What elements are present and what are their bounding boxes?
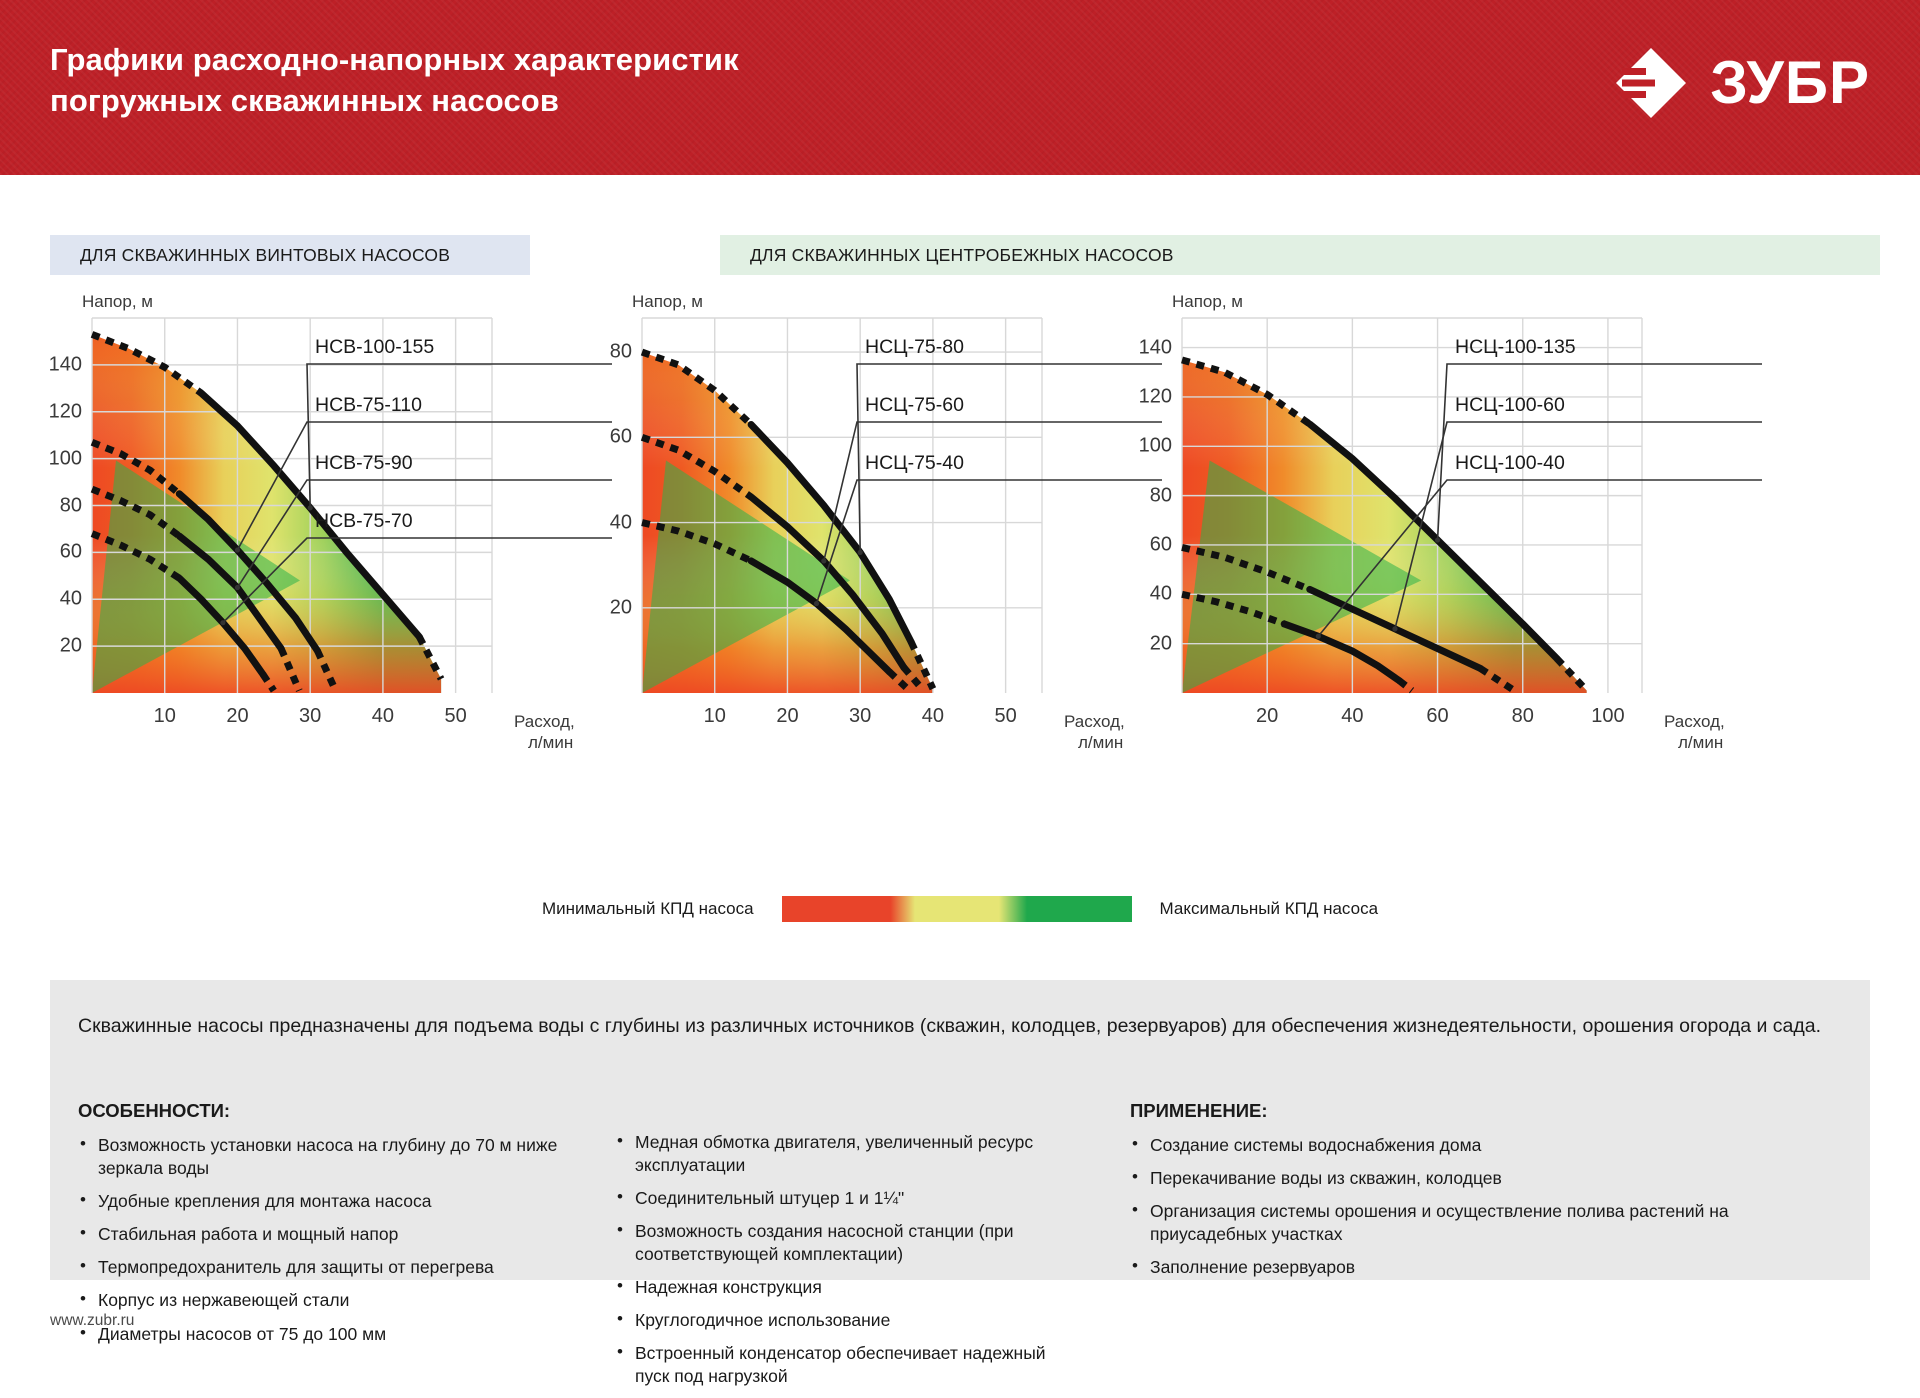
feature-item: Соединительный штуцер 1 и 1¼" (615, 1187, 1075, 1210)
section-header-screw-pumps: ДЛЯ СКВАЖИННЫХ ВИНТОВЫХ НАСОСОВ (50, 235, 530, 275)
curve-label: НСВ-75-90 (315, 452, 413, 475)
y-tick-label: 140 (32, 353, 82, 376)
curve-leader-dot (235, 585, 240, 590)
y-tick-label: 40 (582, 511, 632, 534)
curve-label: НСЦ-75-60 (865, 394, 964, 417)
y-tick-label: 20 (32, 635, 82, 658)
curve-leader-dot (235, 547, 240, 552)
y-tick-label: 20 (582, 596, 632, 619)
feature-item: Удобные крепления для монтажа насоса (78, 1190, 568, 1213)
chart-xlabel-line2: л/мин (514, 732, 575, 753)
feature-item: Круглогодичное использование (615, 1309, 1075, 1332)
efficiency-legend: Минимальный КПД насоса Максимальный КПД … (0, 892, 1920, 926)
curve-label: НСЦ-75-40 (865, 452, 964, 475)
brand-logo: ЗУБР (1614, 46, 1870, 120)
curve-leader-dot (814, 601, 819, 606)
chart-xlabel-line2: л/мин (1064, 732, 1125, 753)
section-header-centrifugal-pumps: ДЛЯ СКВАЖИННЫХ ЦЕНТРОБЕЖНЫХ НАСОСОВ (720, 235, 1880, 275)
spacer (615, 1100, 1075, 1131)
x-tick-label: 80 (1493, 705, 1553, 728)
feature-item: Стабильная работа и мощный напор (78, 1223, 568, 1246)
info-lead-line1: Скважинные насосы предназначены для подъ… (78, 1015, 1577, 1037)
chart-plot (590, 300, 1182, 713)
curve-label: НСЦ-75-80 (865, 336, 964, 359)
x-tick-label: 30 (830, 705, 890, 728)
feature-item: Термопредохранитель для защиты от перегр… (78, 1256, 568, 1279)
y-tick-label: 80 (582, 341, 632, 364)
curve-label: НСВ-75-110 (315, 394, 422, 417)
curve-leader-dot (1435, 537, 1440, 542)
chart-screw-pumps: Напор, мРасход,л/мин20406080100120140102… (40, 300, 640, 860)
curve-leader-dot (1316, 634, 1321, 639)
curve-leader-dot (821, 558, 826, 563)
chart-centrifugal-100: Напор, мРасход,л/мин20406080100120140204… (1130, 300, 1830, 860)
y-tick-label: 120 (1122, 385, 1172, 408)
x-tick-label: 20 (1237, 705, 1297, 728)
y-tick-label: 120 (32, 400, 82, 423)
chart-ylabel: Напор, м (632, 292, 703, 312)
feature-item: Возможность создания насосной станции (п… (615, 1220, 1075, 1266)
curve-label: НСЦ-100-135 (1455, 336, 1576, 359)
x-tick-label: 30 (280, 705, 340, 728)
curve-label: НСВ-100-155 (315, 336, 434, 359)
feature-item: Корпус из нержавеющей стали (78, 1289, 568, 1312)
curve-leader-dot (308, 505, 313, 510)
curve-leader-dot (858, 550, 863, 555)
x-tick-label: 40 (353, 705, 413, 728)
chart-ylabel: Напор, м (82, 292, 153, 312)
footer-url: www.zubr.ru (50, 1312, 134, 1330)
zubr-arrow-diamond-icon (1614, 46, 1688, 120)
features-heading: ОСОБЕННОСТИ: (78, 1100, 568, 1122)
chart-xlabel: Расход,л/мин (514, 711, 575, 754)
x-tick-label: 40 (1322, 705, 1382, 728)
feature-item: Диаметры насосов от 75 до 100 мм (78, 1323, 568, 1346)
y-tick-label: 60 (32, 541, 82, 564)
x-tick-label: 50 (426, 705, 486, 728)
info-lead-line2: орошения огорода и сада. (1583, 1015, 1822, 1037)
feature-item: Медная обмотка двигателя, увеличенный ре… (615, 1131, 1075, 1177)
chart-xlabel: Расход,л/мин (1664, 711, 1725, 754)
feature-item: Надежная конструкция (615, 1276, 1075, 1299)
curve-leader-dot (1392, 626, 1397, 631)
info-panel: Скважинные насосы предназначены для подъ… (50, 980, 1870, 1280)
page-header: Графики расходно-напорных характеристик … (0, 0, 1920, 175)
x-tick-label: 20 (207, 705, 267, 728)
x-tick-label: 20 (757, 705, 817, 728)
page-title-line2: погружных скважинных насосов (50, 81, 1100, 122)
curve-label: НСЦ-100-60 (1455, 394, 1565, 417)
features-column-2: Медная обмотка двигателя, увеличенный ре… (615, 1100, 1075, 1398)
chart-xlabel: Расход,л/мин (1064, 711, 1125, 754)
y-tick-label: 100 (32, 447, 82, 470)
application-heading: ПРИМЕНЕНИЕ: (1130, 1100, 1830, 1122)
info-lead: Скважинные насосы предназначены для подъ… (78, 1012, 1838, 1040)
y-tick-label: 40 (1122, 583, 1172, 606)
legend-gradient-bar (782, 896, 1132, 922)
application-item: Заполнение резервуаров (1130, 1256, 1830, 1279)
y-tick-label: 100 (1122, 435, 1172, 458)
y-tick-label: 80 (1122, 484, 1172, 507)
y-tick-label: 40 (32, 588, 82, 611)
application-item: Перекачивание воды из скважин, колодцев (1130, 1167, 1830, 1190)
x-tick-label: 50 (976, 705, 1036, 728)
page-title-line1: Графики расходно-напорных характеристик (50, 42, 739, 77)
chart-ylabel: Напор, м (1172, 292, 1243, 312)
curve-leader-dot (220, 620, 225, 625)
y-tick-label: 60 (582, 426, 632, 449)
legend-max-label: Максимальный КПД насоса (1160, 899, 1378, 919)
features-list-2: Медная обмотка двигателя, увеличенный ре… (615, 1131, 1075, 1389)
feature-item: Возможность установки насоса на глубину … (78, 1134, 568, 1180)
chart-xlabel-line1: Расход, (1064, 711, 1125, 732)
chart-xlabel-line1: Расход, (514, 711, 575, 732)
applications-list: Создание системы водоснабжения домаПерек… (1130, 1134, 1830, 1279)
curve-label: НСЦ-100-40 (1455, 452, 1565, 475)
y-tick-label: 80 (32, 494, 82, 517)
x-tick-label: 10 (685, 705, 745, 728)
chart-centrifugal-75: Напор, мРасход,л/мин204060801020304050НС… (590, 300, 1190, 860)
applications-column: ПРИМЕНЕНИЕ: Создание системы водоснабжен… (1130, 1100, 1830, 1289)
curve-label: НСВ-75-70 (315, 510, 413, 533)
y-tick-label: 60 (1122, 533, 1172, 556)
x-tick-label: 60 (1408, 705, 1468, 728)
x-tick-label: 10 (135, 705, 195, 728)
y-tick-label: 140 (1122, 336, 1172, 359)
chart-xlabel-line1: Расход, (1664, 711, 1725, 732)
page-title: Графики расходно-напорных характеристик … (50, 40, 1100, 122)
x-tick-label: 40 (903, 705, 963, 728)
chart-plot (40, 300, 632, 713)
features-list-1: Возможность установки насоса на глубину … (78, 1134, 568, 1346)
chart-xlabel-line2: л/мин (1664, 732, 1725, 753)
y-tick-label: 20 (1122, 632, 1172, 655)
application-item: Создание системы водоснабжения дома (1130, 1134, 1830, 1157)
feature-item: Встроенный конденсатор обеспечивает наде… (615, 1342, 1075, 1388)
chart-plot (1130, 300, 1782, 713)
x-tick-label: 100 (1578, 705, 1638, 728)
application-item: Организация системы орошения и осуществл… (1130, 1200, 1830, 1246)
features-column-1: ОСОБЕННОСТИ: Возможность установки насос… (78, 1100, 568, 1356)
brand-name: ЗУБР (1710, 53, 1870, 113)
legend-min-label: Минимальный КПД насоса (542, 899, 754, 919)
